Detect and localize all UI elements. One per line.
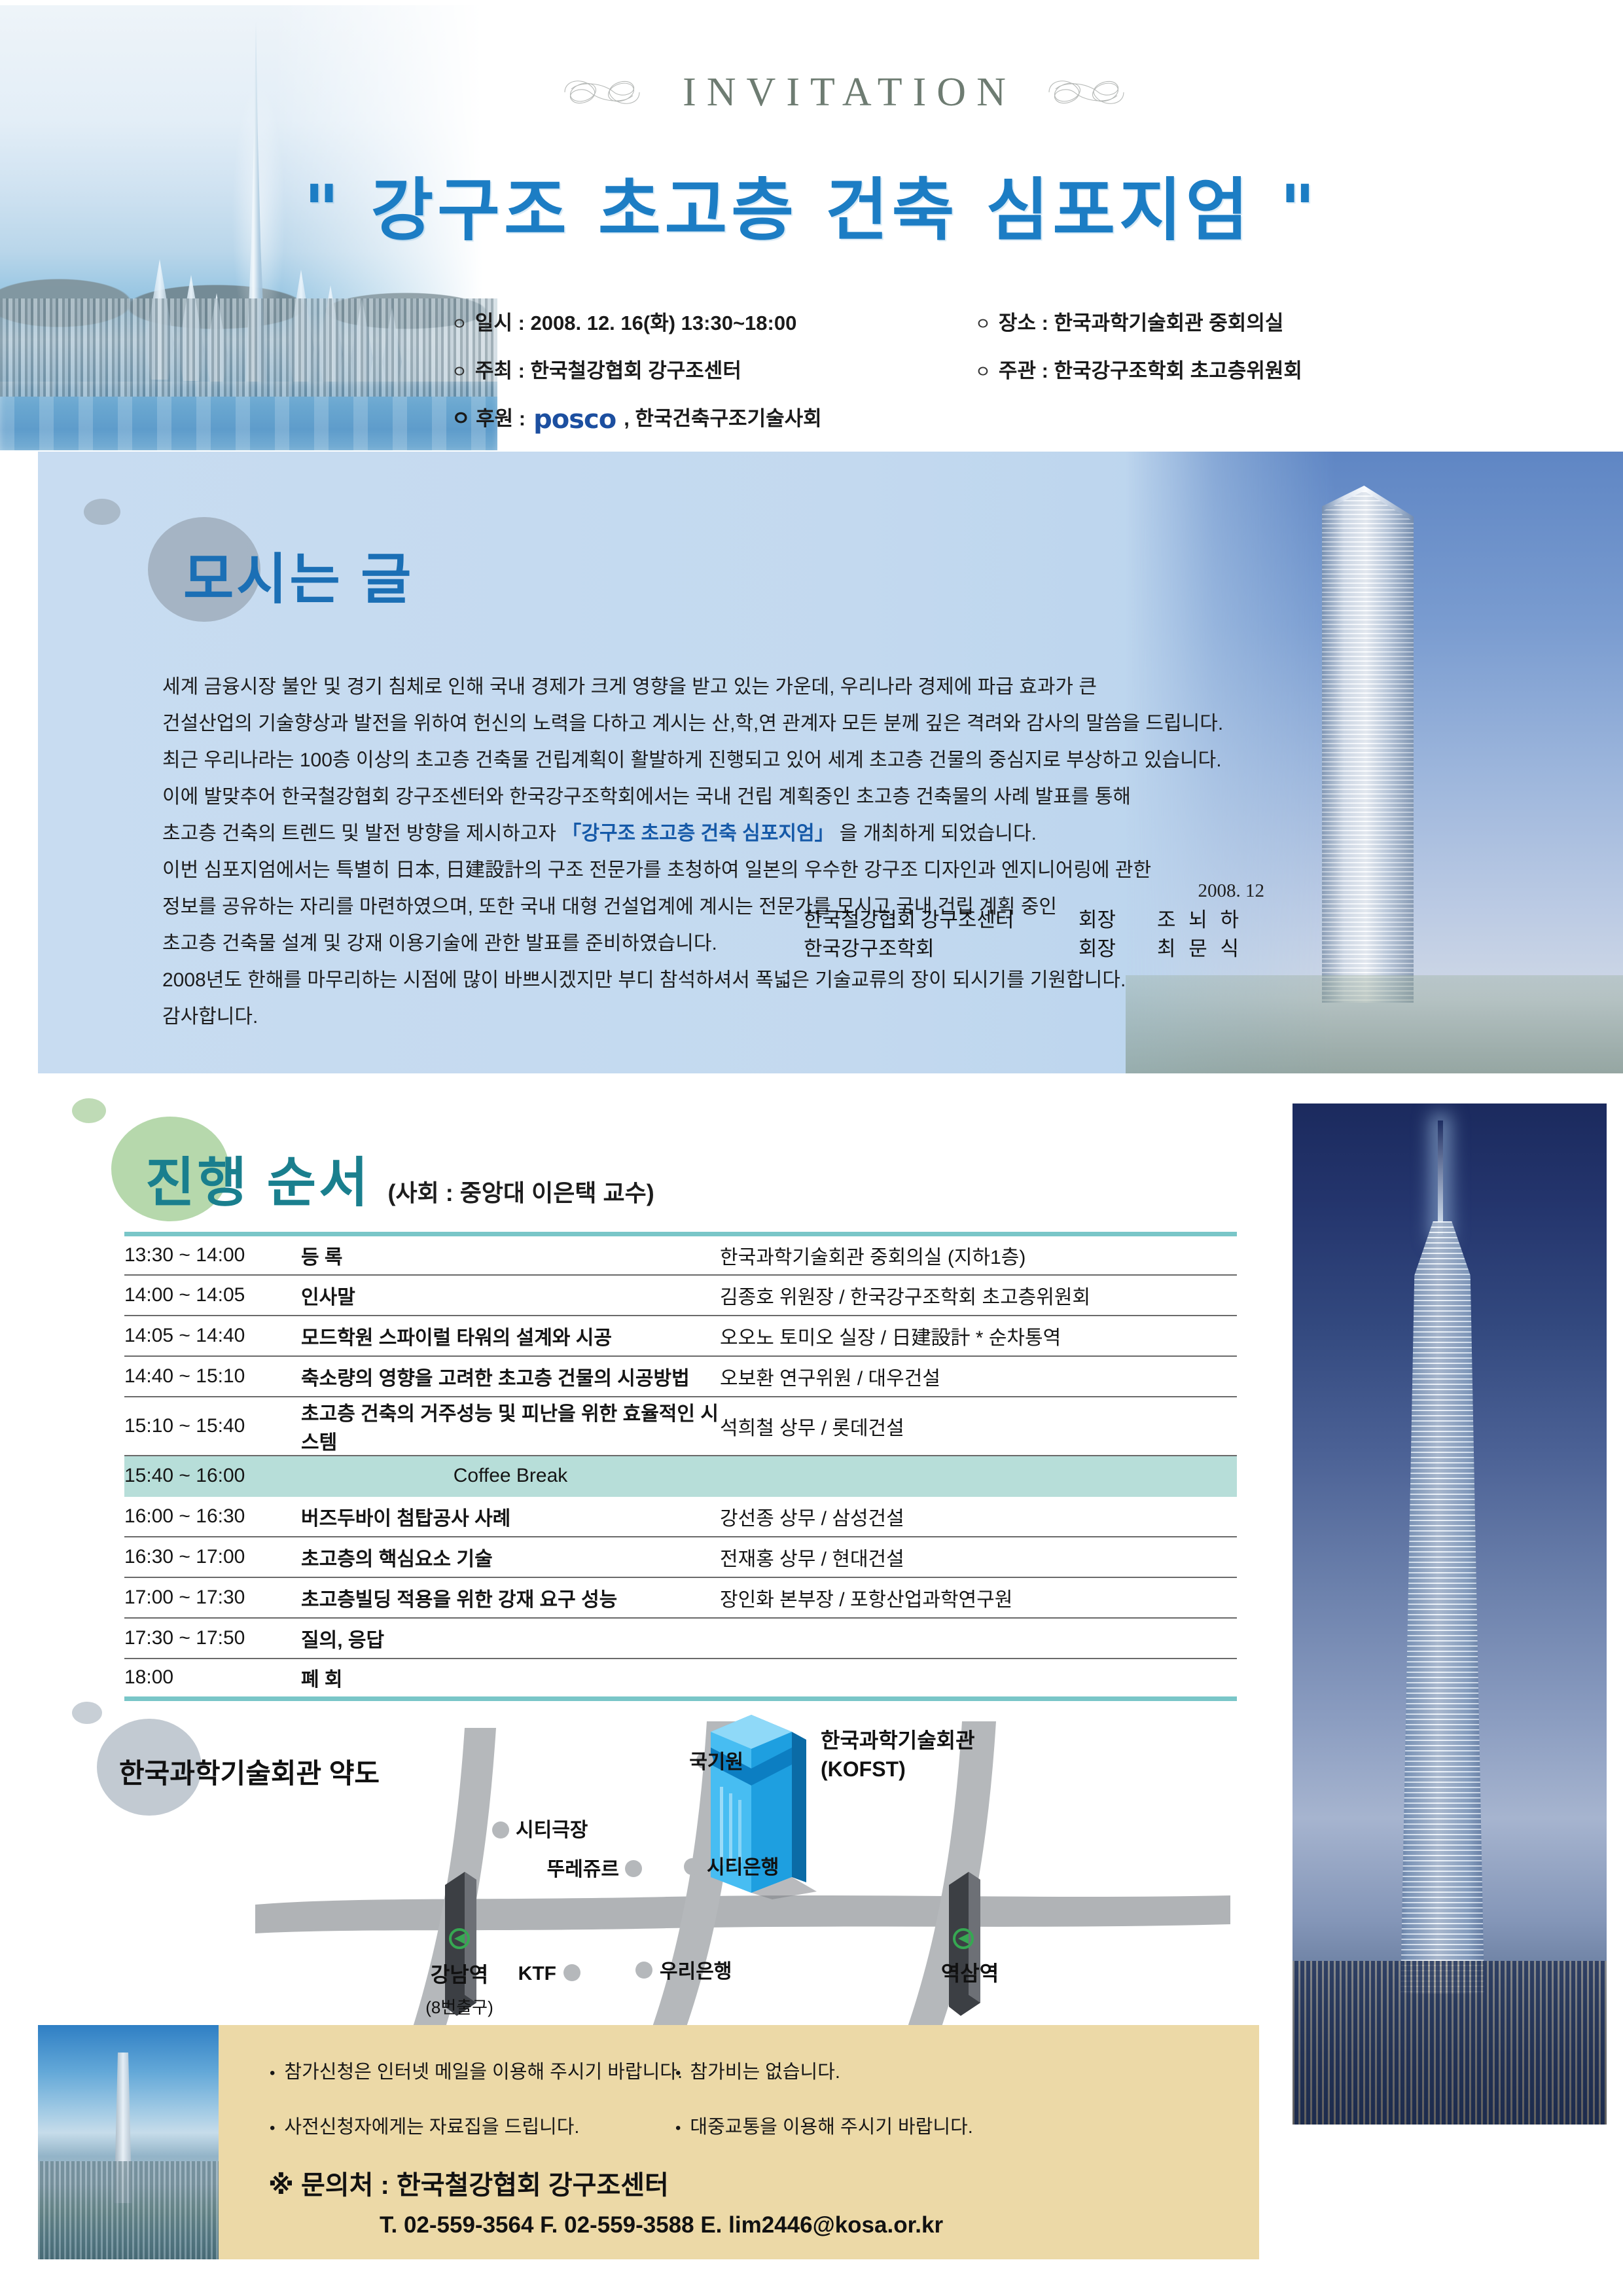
signer-name: 최 문 식 (1157, 935, 1268, 963)
row-time: 16:00 ~ 16:30 (124, 1496, 301, 1537)
row-topic: 초고층의 핵심요소 기술 (301, 1537, 720, 1577)
row-time: 15:40 ~ 16:00 (124, 1456, 301, 1496)
footer-tel-line: T. 02-559-3564 F. 02-559-3588 E. lim2446… (380, 2212, 943, 2238)
signer-name: 조 뇌 하 (1157, 906, 1268, 935)
program-heading: 진행 순서 (사회 : 중앙대 이은택 교수) (145, 1139, 654, 1217)
greeting-line-after: 을 개최하게 되었습니다. (834, 823, 1037, 844)
greeting-line: 2008년도 한해를 마무리하는 시점에 많이 바쁘시겠지만 부디 참석하셔서 … (162, 962, 1249, 999)
program-heading-title: 진행 순서 (145, 1139, 371, 1217)
footer-note-text: 사전신청자에게는 자료집을 드립니다. (284, 2111, 579, 2139)
meta-label-venue: 장소 : 한국과학기술회관 중회의실 (999, 306, 1283, 336)
footer-tower-photo (38, 2025, 219, 2259)
map-section: 한국과학기술회관 약도 (0, 1695, 1283, 2036)
row-time: 18:00 (124, 1659, 301, 1699)
row-topic: 인사말 (301, 1275, 720, 1316)
map-label-yeoksam-station: 역삼역 (941, 1962, 999, 1985)
subway-entrance-yeoksam-icon (949, 1872, 980, 2016)
row-speaker (720, 1456, 1237, 1496)
row-time: 16:30 ~ 17:00 (124, 1537, 301, 1577)
bullet-icon: ㅇ (975, 311, 991, 335)
tower-spire (1438, 1121, 1443, 1235)
row-time: 14:40 ~ 15:10 (124, 1356, 301, 1397)
meta-item-sponsor: ㅇ 후원 : posco , 한국건축구조기술사회 (452, 402, 975, 432)
landmark-dot-city-theater (492, 1821, 509, 1839)
signature-date: 2008. 12 (692, 880, 1268, 902)
meta-item-organizer: ㅇ 주관 : 한국강구조학회 초고층위원회 (975, 354, 1446, 384)
greeting-line: 건설산업의 기술향상과 발전을 위하여 헌신의 노력을 다하고 계시는 산,학,… (162, 706, 1249, 742)
row-speaker: 장인화 본부장 / 포항산업과학연구원 (720, 1577, 1237, 1618)
signature-row: 한국강구조학회 회장 최 문 식 (692, 935, 1268, 963)
row-speaker (720, 1659, 1237, 1699)
footer-note: • 사전신청자에게는 자료집을 드립니다. (270, 2111, 675, 2139)
greeting-line-before: 초고층 건축의 트렌드 및 발전 방향을 제시하고자 (162, 823, 562, 844)
bullet-icon: ㅇ (975, 359, 991, 383)
row-speaker: 석희철 상무 / 롯데건설 (720, 1397, 1237, 1456)
meta-item-venue: ㅇ 장소 : 한국과학기술회관 중회의실 (975, 306, 1446, 336)
row-speaker: 오보환 연구위원 / 대우건설 (720, 1356, 1237, 1397)
row-topic: 초고층빌딩 적용을 위한 강재 요구 성능 (301, 1577, 720, 1618)
flourish-ornament-left (560, 71, 645, 114)
subway-entrance-gangnam-icon (445, 1872, 476, 2016)
decor-dot-small-grey (72, 1702, 102, 1724)
meta-label-date: 일시 : 2008. 12. 16(화) 13:30~18:00 (475, 306, 796, 336)
row-time: 17:30 ~ 17:50 (124, 1618, 301, 1659)
greeting-line: 최근 우리나라는 100층 이상의 초고층 건축물 건립계획이 활발하게 진행되… (162, 742, 1249, 779)
row-topic: 폐 회 (301, 1659, 720, 1699)
greeting-heading: 모시는 글 (183, 535, 414, 615)
flourish-ornament-right (1044, 71, 1129, 114)
night-city-base (1293, 1961, 1607, 2125)
row-topic: 모드학원 스파이럴 타워의 설계와 시공 (301, 1316, 720, 1356)
row-speaker (720, 1618, 1237, 1659)
table-row-coffee-break: 15:40 ~ 16:00 Coffee Break (124, 1456, 1237, 1496)
footer-note: • 대중교통을 이용해 주시기 바랍니다. (675, 2111, 1120, 2139)
greeting-body: 세계 금융시장 불안 및 경기 침체로 인해 국내 경제가 크게 영향을 받고 … (162, 669, 1249, 1035)
bullet-dot-icon: • (675, 2066, 681, 2081)
row-time: 13:30 ~ 14:00 (124, 1234, 301, 1275)
petal-tower (178, 275, 204, 381)
meta-label-sponsor-prefix: ㅇ 후원 : (452, 402, 526, 431)
night-tower-image (1293, 1103, 1607, 2125)
greeting-line: 감사합니다. (162, 999, 1249, 1035)
bullet-icon: ㅇ (452, 359, 467, 383)
footer-notes-grid: • 참가신청은 인터넷 메일을 이용해 주시기 바랍니다. • 참가비는 없습니… (270, 2056, 1186, 2139)
footer-contact-line: ※ 문의처 : 한국철강협회 강구조센터 (268, 2164, 669, 2202)
table-row: 15:10 ~ 15:40 초고층 건축의 거주성능 및 피난을 위한 효율적인… (124, 1397, 1237, 1456)
meta-label-host: 주최 : 한국철강협회 강구조센터 (475, 354, 741, 384)
map-label-gangnam-exit: (8번출구) (425, 1998, 493, 2017)
footer-info-box: • 참가신청은 인터넷 메일을 이용해 주시기 바랍니다. • 참가비는 없습니… (219, 2025, 1259, 2259)
greeting-line: 이에 발맞추어 한국철강협회 강구조센터와 한국강구조학회에서는 국내 건립 계… (162, 779, 1249, 816)
page-title: " 강구조 초고층 건축 심포지엄 " (0, 154, 1623, 253)
signature-block: 2008. 12 한국철강협회 강구조센터 회장 조 뇌 하 한국강구조학회 회… (692, 880, 1268, 963)
river-water (0, 382, 497, 450)
invitation-label: INVITATION (672, 69, 1016, 116)
row-topic: 버즈두바이 첨탑공사 사례 (301, 1496, 720, 1537)
map-label-city-theater: 시티극장 (516, 1820, 588, 1841)
decor-dot-small (84, 499, 120, 525)
row-topic: Coffee Break (301, 1456, 720, 1496)
map-label-citibank: 시티은행 (707, 1857, 779, 1878)
bullet-dot-icon: • (675, 2121, 681, 2136)
row-speaker: 김종호 위원장 / 한국강구조학회 초고층위원회 (720, 1275, 1237, 1316)
header-band: INVITATION " 강구조 초고층 건축 심포지엄 " ㅇ 일시 : 20… (0, 0, 1623, 452)
map-label-gangnam-station: 강남역 (431, 1963, 488, 1986)
table-row: 16:30 ~ 17:00 초고층의 핵심요소 기술 전재홍 상무 / 현대건설 (124, 1537, 1237, 1577)
landmark-dot-citibank (684, 1858, 701, 1875)
petal-tower (382, 308, 402, 385)
map-label-kukkiwon: 국기원 (689, 1751, 743, 1773)
event-meta-grid: ㅇ 일시 : 2008. 12. 16(화) 13:30~18:00 ㅇ 장소 … (452, 306, 1446, 432)
row-speaker: 강선종 상무 / 삼성건설 (720, 1496, 1237, 1537)
map-label-ktf: KTF (518, 1963, 556, 1984)
row-topic: 초고층 건축의 거주성능 및 피난을 위한 효율적인 시스템 (301, 1397, 720, 1456)
row-topic: 등 록 (301, 1234, 720, 1275)
schedule-table: 13:30 ~ 14:00 등 록 한국과학기술회관 중회의실 (지하1층) 1… (124, 1232, 1237, 1701)
meta-label-sponsor-suffix: , 한국건축구조기술사회 (624, 402, 821, 431)
row-time: 14:00 ~ 14:05 (124, 1275, 301, 1316)
tower-body (1384, 1221, 1501, 1994)
road-horizontal (255, 1895, 1230, 1933)
meta-item-date: ㅇ 일시 : 2008. 12. 16(화) 13:30~18:00 (452, 306, 975, 336)
greeting-line: 세계 금융시장 불안 및 경기 침체로 인해 국내 경제가 크게 영향을 받고 … (162, 669, 1249, 706)
table-row: 14:00 ~ 14:05 인사말 김종호 위원장 / 한국강구조학회 초고층위… (124, 1275, 1237, 1316)
landmark-dot-tourlesjours (625, 1860, 642, 1877)
landmark-dot-wooribank (635, 1962, 652, 1979)
footer-note-text: 대중교통을 이용해 주시기 바랍니다. (690, 2111, 972, 2139)
signer-org: 한국강구조학회 (804, 935, 1079, 963)
footer-note: • 참가비는 없습니다. (675, 2056, 1120, 2084)
table-row: 14:40 ~ 15:10 축소량의 영향을 고려한 초고층 건물의 시공방법 … (124, 1356, 1237, 1397)
program-section: 진행 순서 (사회 : 중앙대 이은택 교수) 13:30 ~ 14:00 등 … (0, 1080, 1283, 1734)
petal-tower (318, 285, 343, 384)
schedule-body: 13:30 ~ 14:00 등 록 한국과학기술회관 중회의실 (지하1층) 1… (124, 1234, 1237, 1699)
table-row: 17:30 ~ 17:50 질의, 응답 (124, 1618, 1237, 1659)
petal-tower (351, 298, 373, 384)
landmark-dot-ktf (563, 1964, 580, 1981)
footer-note: • 참가신청은 인터넷 메일을 이용해 주시기 바랍니다. (270, 2056, 675, 2084)
table-row: 14:05 ~ 14:40 모드학원 스파이럴 타워의 설계와 시공 오오노 토… (124, 1316, 1237, 1356)
table-row: 18:00 폐 회 (124, 1659, 1237, 1699)
footer-note-text: 참가비는 없습니다. (690, 2056, 840, 2084)
decor-dot-small-green (72, 1098, 106, 1123)
map-label-wooribank: 우리은행 (660, 1961, 732, 1982)
greeting-panel: 모시는 글 세계 금융시장 불안 및 경기 침체로 인해 국내 경제가 크게 영… (38, 452, 1623, 1073)
signer-title: 회장 (1079, 935, 1157, 963)
signer-title: 회장 (1079, 906, 1157, 935)
posco-logo: posco (533, 404, 616, 435)
row-speaker: 오오노 토미오 실장 / 日建設計 * 순차통역 (720, 1316, 1237, 1356)
signature-row: 한국철강협회 강구조센터 회장 조 뇌 하 (692, 906, 1268, 935)
row-time: 14:05 ~ 14:40 (124, 1316, 301, 1356)
map-label-kofst-line1: 한국과학기술회관 (821, 1729, 975, 1752)
program-moderator: (사회 : 중앙대 이은택 교수) (388, 1174, 654, 1208)
greeting-line-highlighted: 초고층 건축의 트렌드 및 발전 방향을 제시하고자 「강구조 초고층 건축 심… (162, 816, 1249, 852)
row-time: 17:00 ~ 17:30 (124, 1577, 301, 1618)
row-topic: 질의, 응답 (301, 1618, 720, 1659)
meta-item-host: ㅇ 주최 : 한국철강협회 강구조센터 (452, 354, 975, 384)
row-speaker: 한국과학기술회관 중회의실 (지하1층) (720, 1234, 1237, 1275)
row-topic: 축소량의 영향을 고려한 초고층 건물의 시공방법 (301, 1356, 720, 1397)
bullet-dot-icon: • (270, 2066, 275, 2081)
row-speaker: 전재홍 상무 / 현대건설 (720, 1537, 1237, 1577)
table-row: 17:00 ~ 17:30 초고층빌딩 적용을 위한 강재 요구 성능 장인화 … (124, 1577, 1237, 1618)
table-row: 13:30 ~ 14:00 등 록 한국과학기술회관 중회의실 (지하1층) (124, 1234, 1237, 1275)
petal-tower (205, 293, 228, 382)
footer-note-text: 참가신청은 인터넷 메일을 이용해 주시기 바랍니다. (284, 2056, 683, 2084)
table-row: 16:00 ~ 16:30 버즈두바이 첨탑공사 사례 강선종 상무 / 삼성건… (124, 1496, 1237, 1537)
meta-label-organizer: 주관 : 한국강구조학회 초고층위원회 (999, 354, 1302, 384)
map-label-kofst-line2: (KOFST) (821, 1757, 906, 1781)
row-time: 15:10 ~ 15:40 (124, 1397, 301, 1456)
symposium-name-highlight: 「강구조 초고층 건축 심포지엄」 (562, 823, 834, 844)
map-label-tourlesjours: 뚜레쥬르 (547, 1859, 619, 1880)
bullet-dot-icon: • (270, 2121, 275, 2136)
bullet-icon: ㅇ (452, 311, 467, 335)
venue-map: 국기원 시티극장 뚜레쥬르 시티은행 KTF 우리은행 한국과학기술회관 (KO… (249, 1708, 1243, 2036)
petal-tower (145, 259, 174, 380)
signer-org: 한국철강협회 강구조센터 (804, 906, 1079, 935)
invitation-row: INVITATION (419, 63, 1270, 122)
